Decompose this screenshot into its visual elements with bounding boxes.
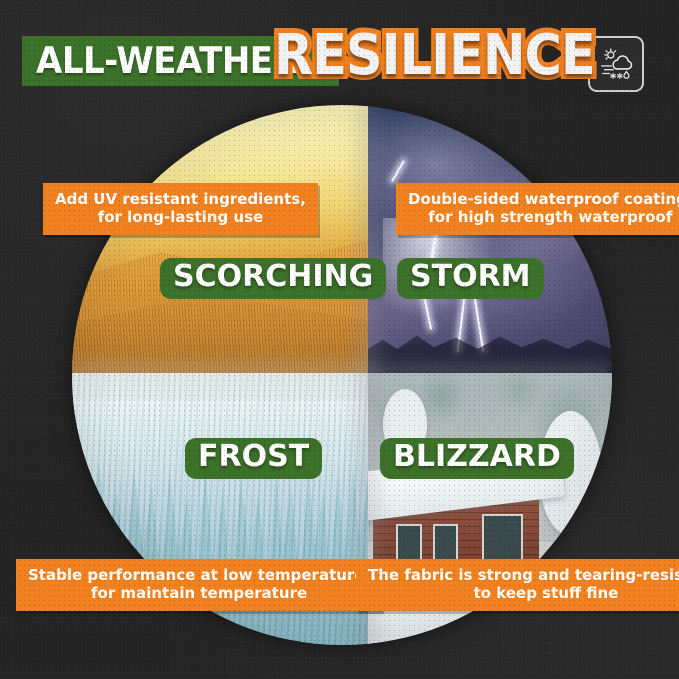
callout-storm-line2: for high strength waterproof	[408, 208, 679, 226]
callout-scorching-line1: Add UV resistant ingredients,	[55, 190, 306, 208]
callout-blizzard: The fabric is strong and tearing-resista…	[356, 559, 679, 611]
label-frost: FROST	[185, 438, 322, 479]
label-blizzard: BLIZZARD	[380, 438, 574, 479]
callout-blizzard-line2: to keep stuff fine	[368, 584, 679, 602]
callout-blizzard-line1: The fabric is strong and tearing-resista…	[368, 566, 679, 584]
page-title-primary: ALL-WEATHER	[36, 39, 298, 82]
quadrant-scorching	[72, 105, 368, 373]
callout-frost-line1: Stable performance at low temperature,	[28, 566, 370, 584]
header-bar: ALL-WEATHER RESILIENCE	[0, 30, 679, 98]
callout-storm-line1: Double-sided waterproof coating,	[408, 190, 679, 208]
callout-frost-line2: for maintain temperature	[28, 584, 370, 602]
poster-canvas: SCORCHING STORM FROST BLIZZARD Add UV re…	[0, 0, 679, 679]
label-scorching: SCORCHING	[160, 258, 386, 299]
callout-storm: Double-sided waterproof coating, for hig…	[396, 183, 679, 235]
label-storm: STORM	[397, 258, 544, 299]
callout-frost: Stable performance at low temperature, f…	[16, 559, 382, 611]
callout-scorching-line2: for long-lasting use	[55, 208, 306, 226]
quadrant-storm	[368, 105, 612, 373]
page-title-secondary: RESILIENCE	[274, 23, 595, 88]
callout-scorching: Add UV resistant ingredients, for long-l…	[43, 183, 318, 235]
